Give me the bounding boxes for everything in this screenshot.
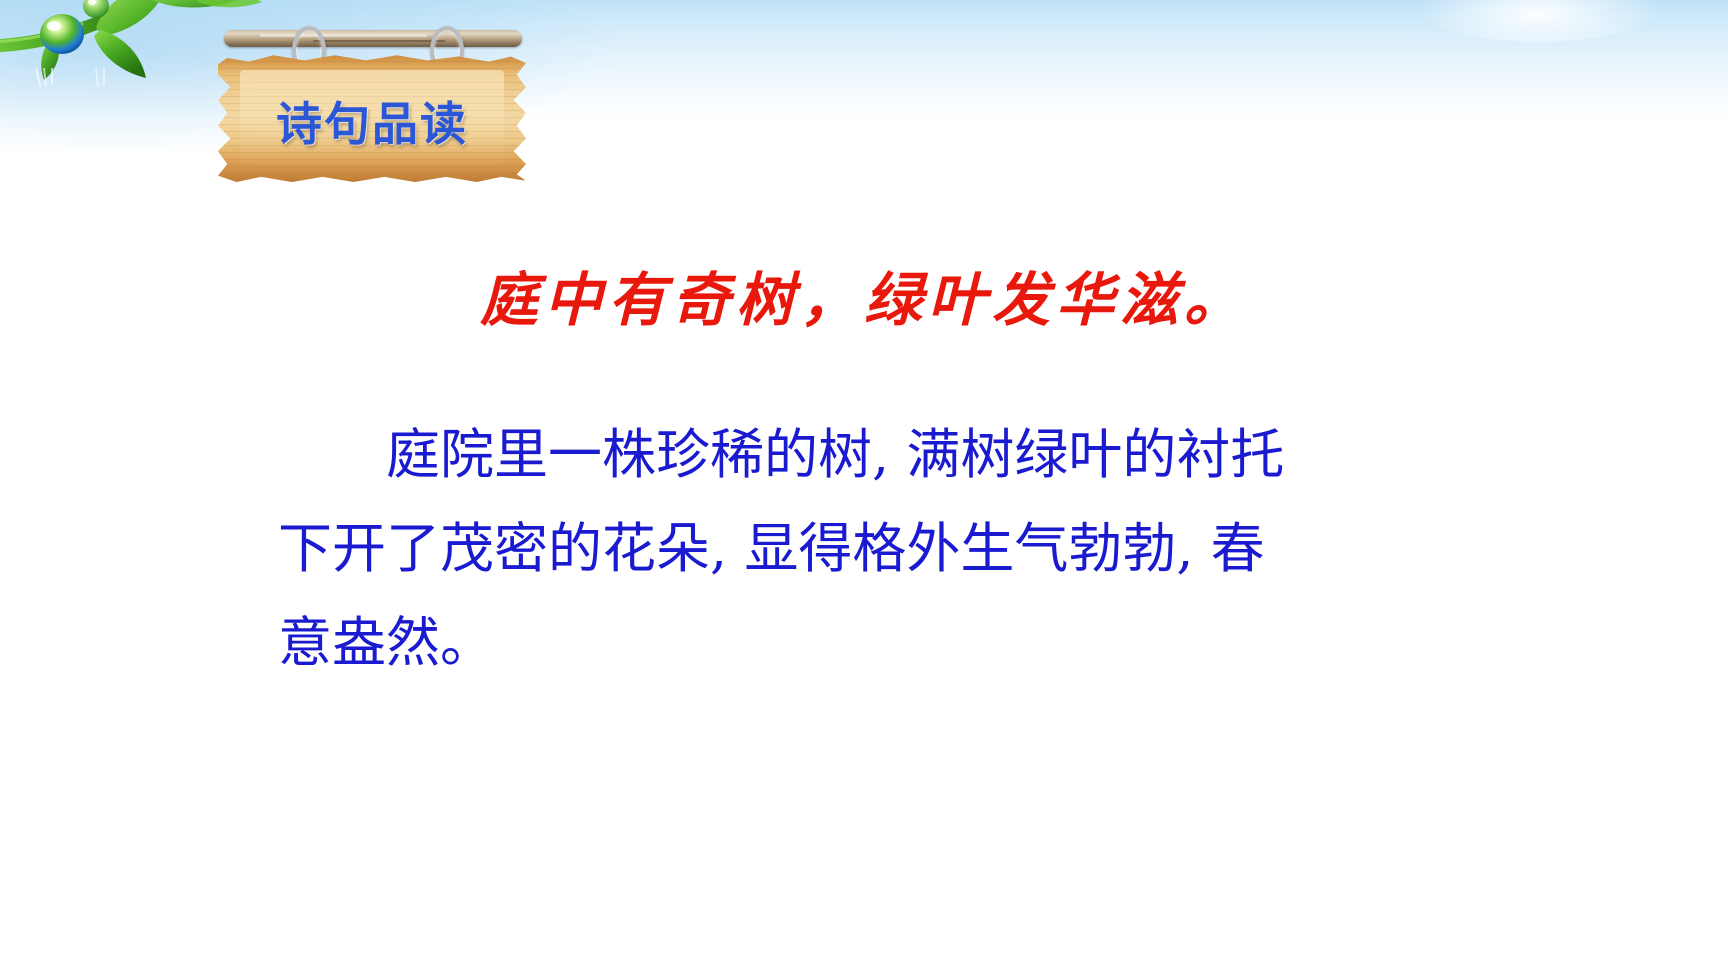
sign-board: 诗句品读 <box>218 54 526 182</box>
sign-branch-icon <box>224 30 522 47</box>
explanation-line-1: 庭院里一株珍稀的树, 满树绿叶的衬托 <box>278 408 1278 502</box>
explanation-line-3: 意盎然。 <box>278 596 1278 690</box>
poem-line: 庭中有奇树，绿叶发华滋。 <box>0 253 1728 337</box>
explanation-paragraph: 庭院里一株珍稀的树, 满树绿叶的衬托 下开了茂密的花朵, 显得格外生气勃勃, 春… <box>278 408 1278 690</box>
wooden-sign: 诗句品读 <box>218 8 526 184</box>
explanation-line-2: 下开了茂密的花朵, 显得格外生气勃勃, 春 <box>278 502 1278 596</box>
sign-title: 诗句品读 <box>218 88 526 154</box>
